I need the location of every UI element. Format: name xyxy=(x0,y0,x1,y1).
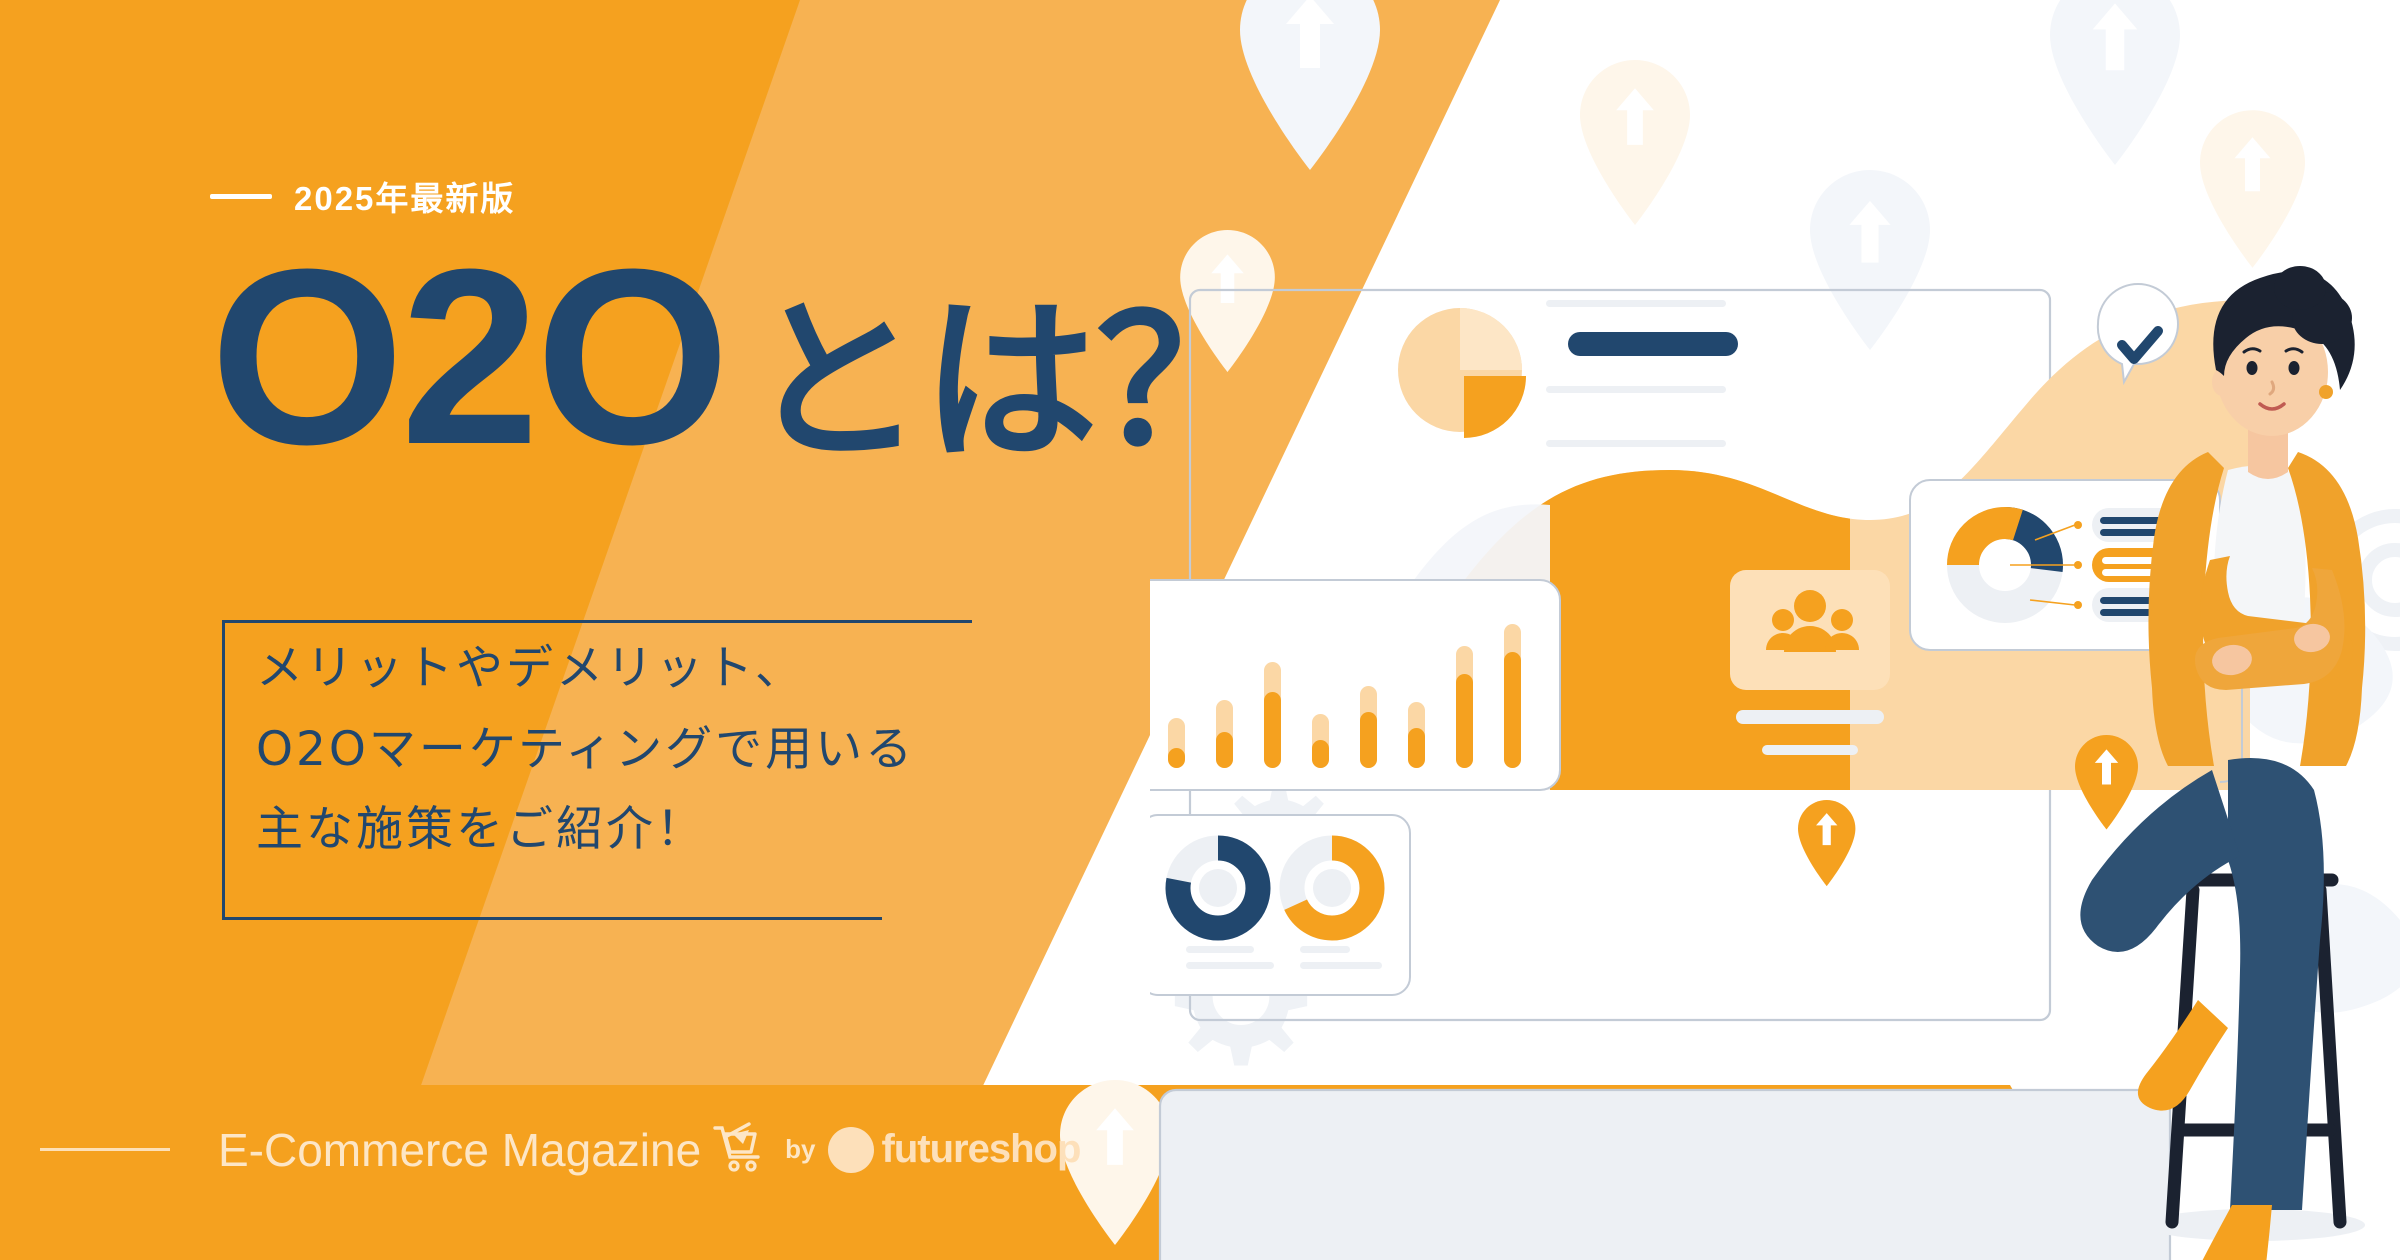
kicker-label: 2025年最新版 xyxy=(294,172,515,220)
poster-canvas: 2025年最新版 O2O とは？ メリットやデメリット、 O2Oマーケティングで… xyxy=(0,0,2400,1260)
shopping-cart-icon xyxy=(713,1122,769,1179)
map-pin-marker xyxy=(1798,800,1855,886)
ring-navy xyxy=(1178,848,1258,928)
brand-name: E-Commerce Magazine xyxy=(218,1123,701,1177)
subtitle-line: メリットやデメリット、 xyxy=(256,636,915,703)
kicker-rule xyxy=(210,194,272,199)
brand-lockup: E-Commerce Magazine by futureshop xyxy=(0,1120,1080,1179)
bar-chart-card xyxy=(1150,580,1560,790)
map-pin-marker xyxy=(2075,735,2138,830)
page-title: O2O とは？ xyxy=(210,238,1270,476)
subtitle-callout: メリットやデメリット、 O2Oマーケティングで用いる 主な施策をご紹介！ xyxy=(222,620,1122,920)
futureshop-mark-icon xyxy=(828,1127,874,1173)
analytics-dashboard-illustration xyxy=(1150,0,2400,1260)
dual-ring-card xyxy=(1150,815,1410,995)
page-title-primary: O2O xyxy=(210,238,726,476)
subtitle-line: 主な施策をご紹介！ xyxy=(256,797,915,864)
partner-name: futureshop xyxy=(882,1127,1081,1172)
pie-label-rows xyxy=(1546,300,1738,447)
kicker: 2025年最新版 xyxy=(210,172,515,220)
brand-rule xyxy=(40,1148,170,1151)
ring-orange xyxy=(1292,848,1372,928)
laptop-base xyxy=(1160,1090,2170,1260)
pie-chart xyxy=(1398,308,1526,438)
subtitle-line: O2Oマーケティングで用いる xyxy=(256,717,915,784)
brand-by-label: by xyxy=(785,1134,815,1165)
